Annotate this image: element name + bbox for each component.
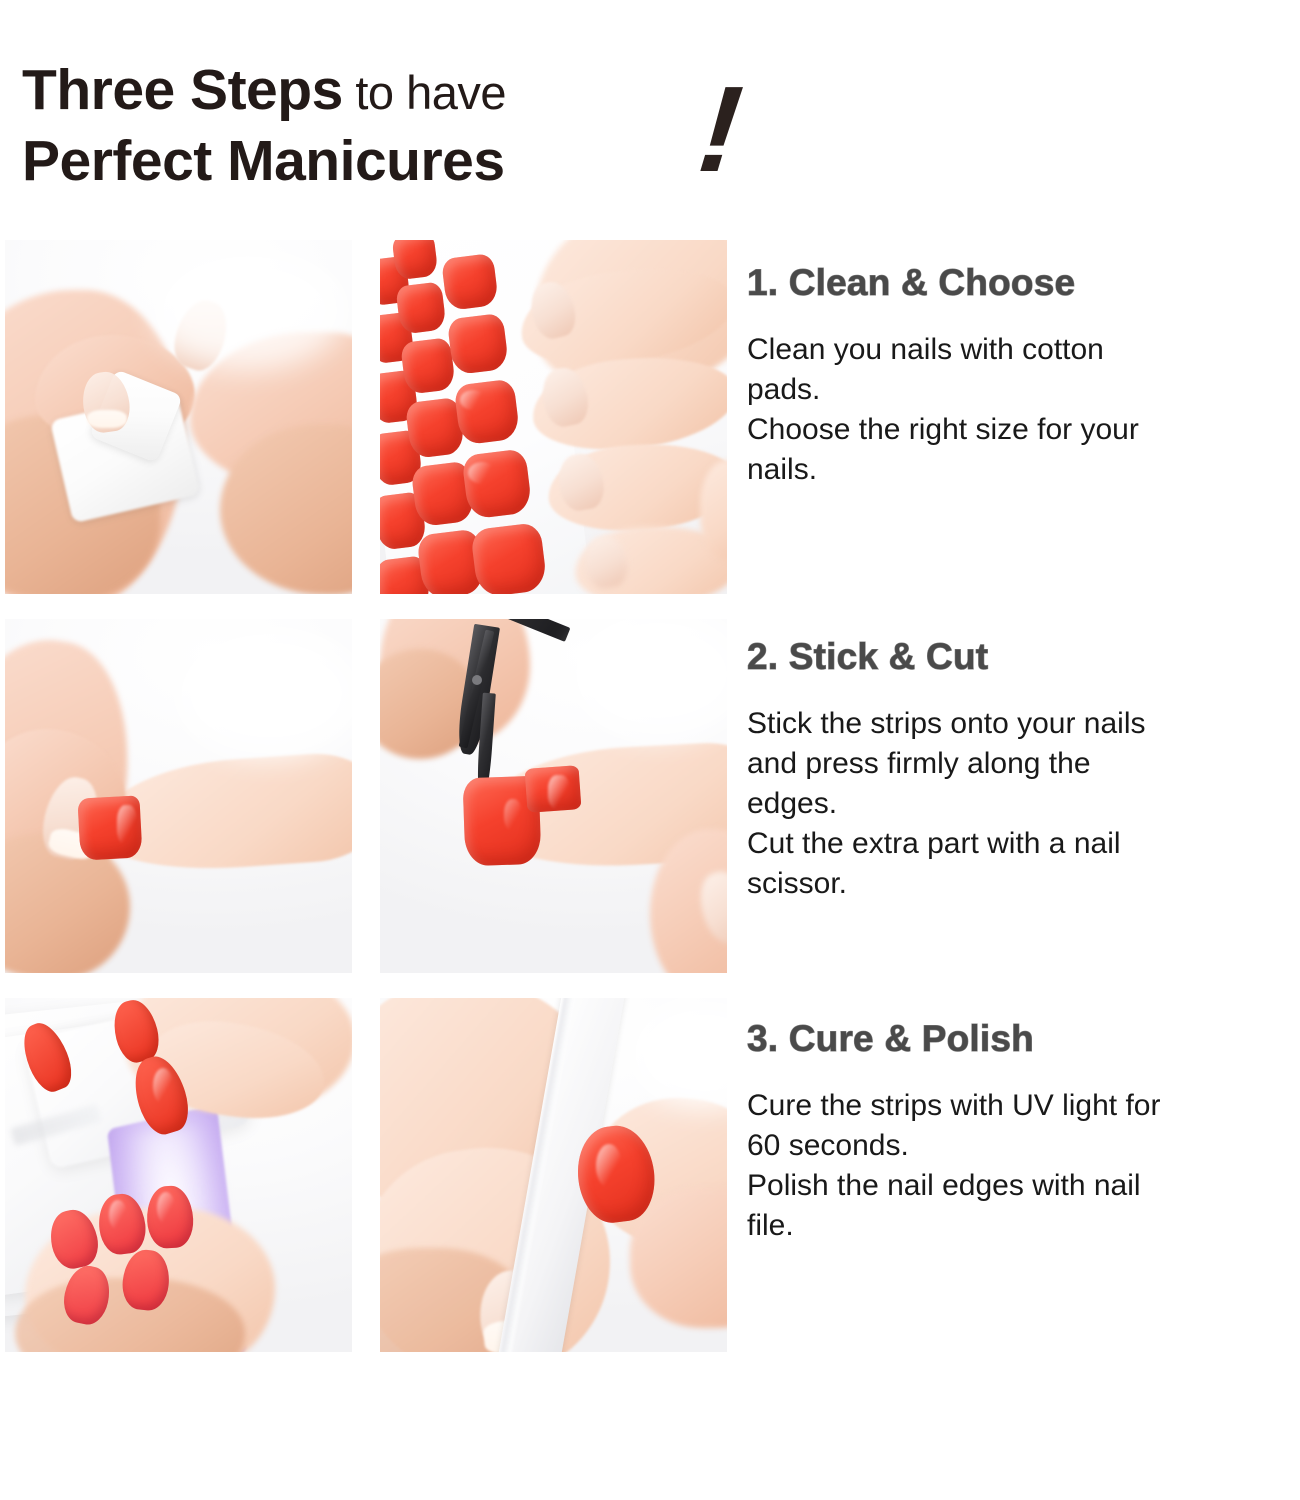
step-1: 1. Clean & Choose Clean you nails with c…	[747, 262, 1292, 490]
step-2-body: Stick the strips onto your nails and pre…	[747, 704, 1292, 903]
title-line-2: Perfect Manicures	[22, 133, 722, 190]
step-3-line-3: Polish the nail edges with nail	[747, 1166, 1292, 1206]
step-2: 2. Stick & Cut Stick the strips onto you…	[747, 636, 1292, 903]
step-1-heading: 1. Clean & Choose	[747, 262, 1292, 304]
photo-cut-extra-strip-with-nail-scissor	[380, 619, 727, 973]
photo-clean-nail-with-cotton-pad	[5, 240, 352, 594]
title-strong-2: Perfect Manicures	[22, 129, 505, 193]
step-1-line-4: nails.	[747, 450, 1292, 490]
photo-choose-size-red-nail-strip-sheet	[380, 240, 727, 594]
step-1-line-2: pads.	[747, 370, 1292, 410]
step-2-line-2: and press firmly along the	[747, 744, 1292, 784]
photo-polish-nail-edges-with-nail-file	[380, 998, 727, 1352]
step-3: 3. Cure & Polish Cure the strips with UV…	[747, 1018, 1292, 1246]
nail-strip-instructions-infographic: { "header": { "title_line1_strong": "Thr…	[0, 0, 1300, 1500]
step-3-line-4: file.	[747, 1206, 1292, 1246]
step-3-body: Cure the strips with UV light for 60 sec…	[747, 1086, 1292, 1246]
photo-row-step-1	[5, 240, 727, 594]
title-strong-1: Three Steps	[22, 58, 343, 122]
step-2-line-5: scissor.	[747, 864, 1292, 904]
photo-stick-red-strip-onto-nail	[5, 619, 352, 973]
photo-row-step-2	[5, 619, 727, 973]
step-3-line-2: 60 seconds.	[747, 1126, 1292, 1166]
photo-cure-nails-under-uv-lamp	[5, 998, 352, 1352]
step-1-body: Clean you nails with cotton pads. Choose…	[747, 330, 1292, 490]
step-1-line-1: Clean you nails with cotton	[747, 330, 1292, 370]
step-3-line-1: Cure the strips with UV light for	[747, 1086, 1292, 1126]
title-line-1: Three Steps to have	[22, 62, 722, 119]
step-1-line-3: Choose the right size for your	[747, 410, 1292, 450]
step-2-line-4: Cut the extra part with a nail	[747, 824, 1292, 864]
title-light-1: to have	[343, 66, 506, 119]
step-2-heading: 2. Stick & Cut	[747, 636, 1292, 678]
step-3-heading: 3. Cure & Polish	[747, 1018, 1292, 1060]
header: Three Steps to have Perfect Manicures !	[0, 0, 1300, 228]
page-title: Three Steps to have Perfect Manicures	[22, 62, 722, 190]
step-2-line-3: edges.	[747, 784, 1292, 824]
step-2-line-1: Stick the strips onto your nails	[747, 704, 1292, 744]
photo-grid	[5, 240, 727, 1352]
photo-row-step-3	[5, 998, 727, 1352]
